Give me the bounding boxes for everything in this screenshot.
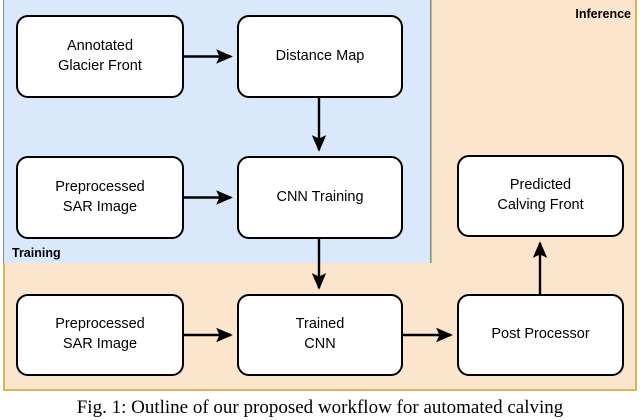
training-region-label: Training bbox=[12, 246, 61, 260]
node-cnn-training[interactable]: CNN Training bbox=[237, 156, 403, 239]
node-post-processor-line1: Post Processor bbox=[485, 325, 595, 345]
inference-region-label: Inference bbox=[575, 7, 631, 21]
node-preprocessed-sar-top-line1: Preprocessed bbox=[49, 178, 150, 198]
node-trained-cnn-line2: CNN bbox=[290, 335, 351, 355]
figure-caption: Fig. 1: Outline of our proposed workflow… bbox=[0, 396, 640, 420]
workflow-figure: Training Inference bbox=[0, 0, 640, 420]
node-trained-cnn[interactable]: Trained CNN bbox=[237, 294, 403, 376]
node-preprocessed-sar-bottom-line1: Preprocessed bbox=[49, 315, 150, 335]
node-trained-cnn-line1: Trained bbox=[290, 315, 351, 335]
node-preprocessed-sar-bottom-line2: SAR Image bbox=[49, 335, 150, 355]
node-annotated-glacier-front[interactable]: Annotated Glacier Front bbox=[16, 15, 184, 98]
node-predicted-calving-front[interactable]: Predicted Calving Front bbox=[457, 155, 624, 237]
node-predicted-calving-front-line2: Calving Front bbox=[491, 196, 589, 216]
node-distance-map-line1: Distance Map bbox=[270, 47, 371, 67]
node-annotated-glacier-front-line1: Annotated bbox=[52, 37, 148, 57]
node-preprocessed-sar-image-training[interactable]: Preprocessed SAR Image bbox=[16, 156, 184, 239]
node-predicted-calving-front-line1: Predicted bbox=[491, 176, 589, 196]
node-cnn-training-line1: CNN Training bbox=[270, 188, 369, 208]
node-post-processor[interactable]: Post Processor bbox=[457, 294, 624, 376]
node-preprocessed-sar-image-inference[interactable]: Preprocessed SAR Image bbox=[16, 294, 184, 376]
node-preprocessed-sar-top-line2: SAR Image bbox=[49, 198, 150, 218]
node-distance-map[interactable]: Distance Map bbox=[237, 15, 403, 98]
node-annotated-glacier-front-line2: Glacier Front bbox=[52, 57, 148, 77]
